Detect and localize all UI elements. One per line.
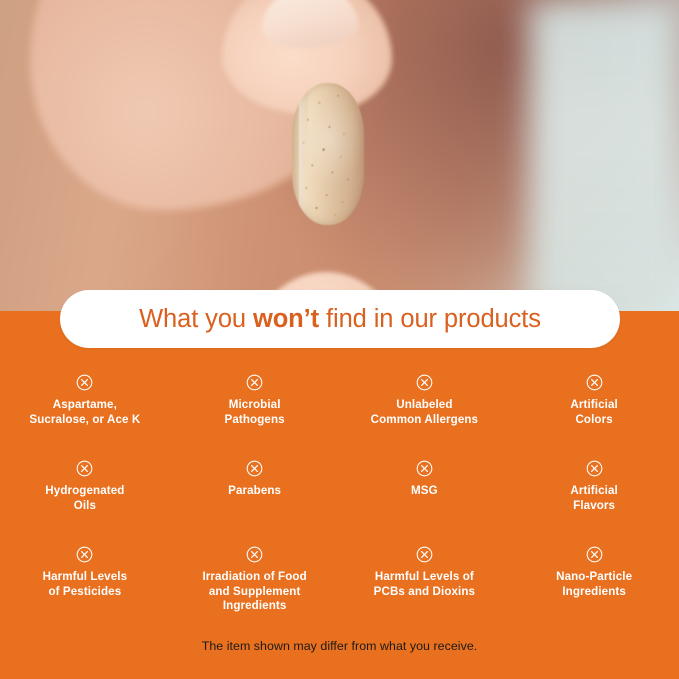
excluded-ingredient-label: Hydrogenated Oils [45,484,124,513]
circle-x-icon [76,460,93,477]
excluded-ingredient-label: MSG [411,484,438,499]
excluded-ingredient-item: Hydrogenated Oils [0,452,170,538]
excluded-ingredient-label: Parabens [228,484,281,499]
excluded-ingredient-label: Aspartame, Sucralose, or Ace K [29,398,140,427]
circle-x-icon [586,546,603,563]
circle-x-icon [586,460,603,477]
product-photo [0,0,679,311]
circle-x-icon [416,374,433,391]
excluded-ingredient-item: MSG [340,452,510,538]
excluded-ingredient-item: Irradiation of Food and Supplement Ingre… [170,538,340,630]
circle-x-icon [76,546,93,563]
supplement-tablet [292,83,364,225]
title-suffix: find in our products [319,305,541,333]
excluded-ingredient-item: Harmful Levels of PCBs and Dioxins [340,538,510,630]
title-card: What you won’t find in our products [60,290,620,348]
circle-x-icon [586,374,603,391]
excluded-ingredient-item: Artificial Flavors [509,452,679,538]
excluded-ingredient-item: Aspartame, Sucralose, or Ace K [0,366,170,452]
excluded-ingredient-item: Harmful Levels of Pesticides [0,538,170,630]
excluded-ingredients-grid: Aspartame, Sucralose, or Ace KMicrobial … [0,366,679,630]
excluded-ingredient-item: Artificial Colors [509,366,679,452]
circle-x-icon [246,374,263,391]
disclaimer-text: The item shown may differ from what you … [0,639,679,653]
excluded-ingredient-label: Nano-Particle Ingredients [556,570,632,599]
excluded-ingredient-label: Microbial Pathogens [225,398,285,427]
photo-teal-highlight [529,0,679,311]
circle-x-icon [246,546,263,563]
excluded-ingredient-label: Harmful Levels of PCBs and Dioxins [374,570,475,599]
excluded-ingredient-label: Irradiation of Food and Supplement Ingre… [202,570,306,614]
excluded-ingredient-item: Microbial Pathogens [170,366,340,452]
title-prefix: What you [139,305,253,333]
excluded-ingredient-label: Artificial Flavors [570,484,617,513]
excluded-ingredient-item: Nano-Particle Ingredients [509,538,679,630]
circle-x-icon [416,546,433,563]
excluded-ingredient-item: Parabens [170,452,340,538]
circle-x-icon [416,460,433,477]
excluded-ingredient-label: Unlabeled Common Allergens [371,398,478,427]
infographic-screen: What you won’t find in our products Aspa… [0,0,679,679]
excluded-ingredient-item: Unlabeled Common Allergens [340,366,510,452]
title-emphasis: won’t [253,305,319,333]
excluded-ingredient-label: Harmful Levels of Pesticides [43,570,128,599]
excluded-ingredient-label: Artificial Colors [570,398,617,427]
page-title: What you won’t find in our products [139,305,541,334]
circle-x-icon [246,460,263,477]
circle-x-icon [76,374,93,391]
tablet-edge-highlight [299,87,306,221]
